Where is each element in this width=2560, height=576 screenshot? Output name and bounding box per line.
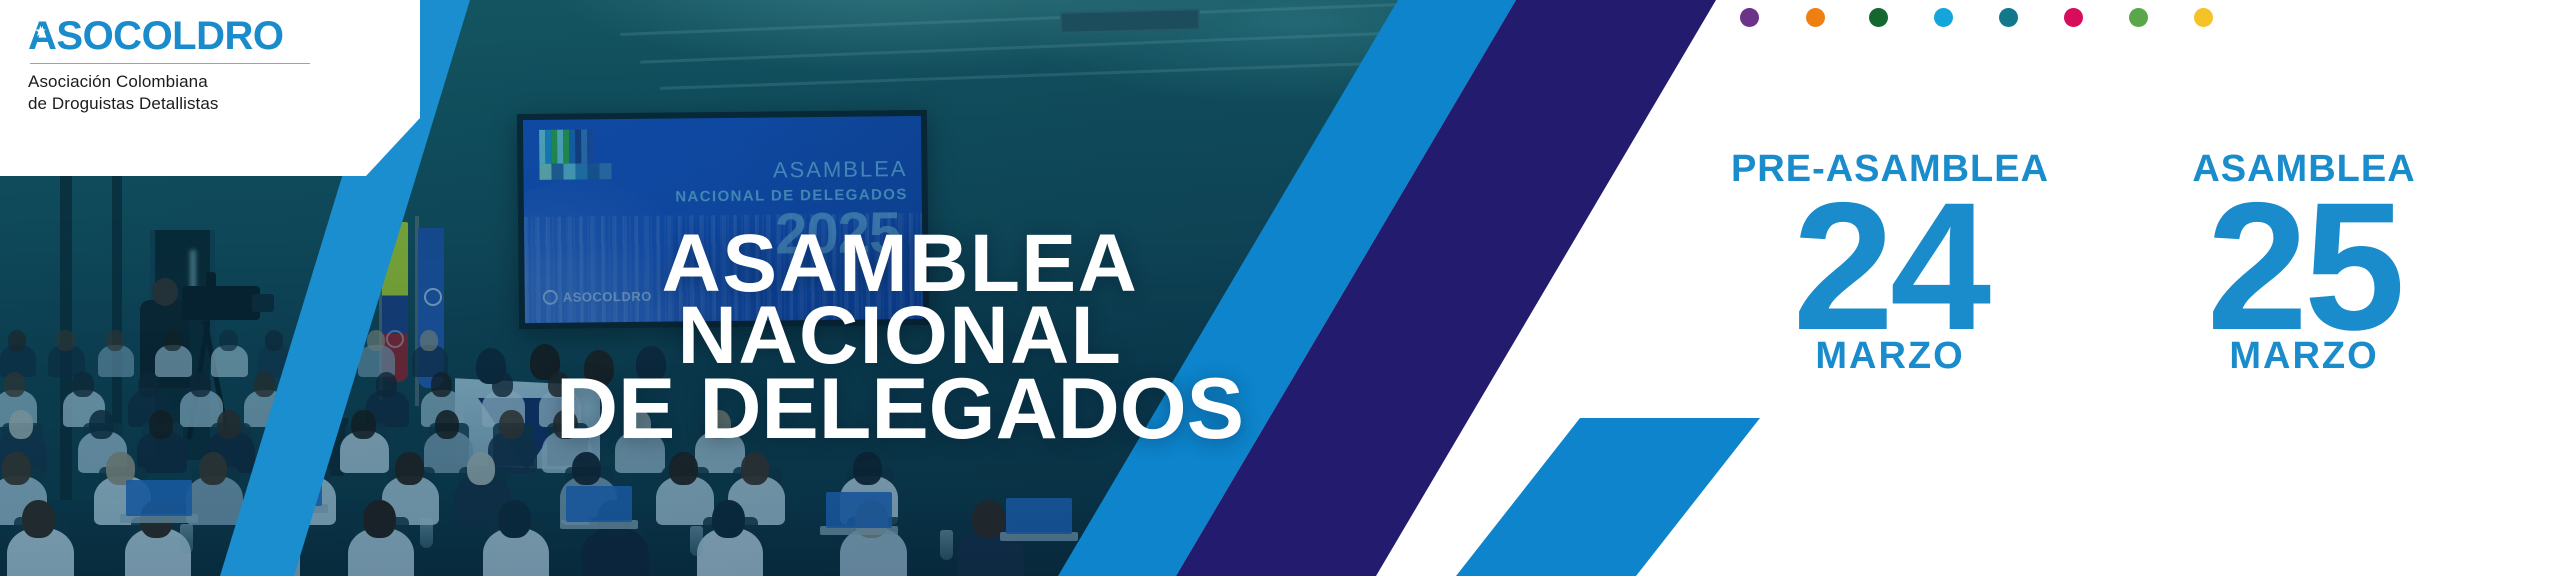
date-card-pre-asamblea: PRE-ASAMBLEA24MARZO [1700, 150, 2080, 375]
screen-subtitle: NACIONAL DE DELEGADOS [675, 186, 908, 205]
water-glass [180, 524, 193, 554]
ceiling-vent [1060, 8, 1201, 34]
audience-member-head [89, 410, 114, 439]
screen-color-bar [599, 163, 611, 179]
audience-member-head [363, 500, 396, 538]
laptop-screen [1006, 498, 1072, 534]
headline-line-3: DE DELEGADOS [450, 372, 1350, 448]
audience-member-head [8, 330, 26, 351]
date-day: 25 [2124, 192, 2484, 341]
audience-member-head [2, 452, 31, 485]
screen-title: ASAMBLEA [773, 156, 908, 183]
dot-yellow [2194, 8, 2213, 27]
dot-green-dark [1869, 8, 1888, 27]
laptop-screen [566, 486, 632, 522]
audience-member-head [22, 500, 55, 538]
logo-tagline: Asociación Colombiana de Droguistas Deta… [28, 71, 420, 115]
audience-member-head [467, 452, 496, 485]
audience-member-head [219, 330, 237, 351]
dot-magenta [2064, 8, 2083, 27]
logo-divider [30, 63, 310, 64]
screen-color-bar [587, 129, 593, 163]
video-camera [182, 286, 260, 320]
screen-color-bars-secondary [539, 163, 611, 180]
audience-member-head [367, 330, 385, 351]
screen-color-bar [539, 164, 551, 180]
audience-member-head [712, 500, 745, 538]
cameraman-head [152, 278, 178, 306]
logo-tagline-line-2: de Droguistas Detallistas [28, 93, 420, 115]
date-month: MARZO [1700, 337, 2080, 375]
camera-microphone [206, 272, 216, 288]
screen-color-bar [563, 164, 575, 180]
audience-member-head [9, 410, 34, 439]
camera-lens [252, 294, 274, 312]
water-glass [940, 530, 953, 560]
audience-member-head [217, 410, 242, 439]
audience-member-head [254, 372, 275, 397]
screen-color-bars [539, 129, 593, 164]
audience-member-head [163, 330, 181, 351]
audience-member-head [138, 372, 159, 397]
audience-member-head [498, 500, 531, 538]
dot-cyan [1934, 8, 1953, 27]
audience-member-head [72, 372, 93, 397]
color-dot-strip [1740, 8, 2540, 38]
screen-color-bar [587, 163, 599, 179]
screen-color-bar [551, 164, 563, 180]
audience-member-head [56, 330, 74, 351]
dot-orange [1806, 8, 1825, 27]
dot-purple [1740, 8, 1759, 27]
audience-member-head [190, 372, 211, 397]
audience-member-head [106, 330, 124, 351]
audience-member-head [199, 452, 228, 485]
star-in-letter-a-icon [34, 25, 47, 38]
date-blocks: PRE-ASAMBLEA24MARZOASAMBLEA25MARZO [1700, 150, 2560, 490]
date-day: 24 [1700, 192, 2080, 341]
logo-wordmark: ASOCOLDRO [28, 16, 284, 56]
dot-teal [1999, 8, 2018, 27]
flag-seal [424, 288, 442, 306]
laptop-screen [826, 492, 892, 528]
logo-lockup: ASOCOLDRO [28, 16, 284, 56]
audience-member-head [395, 452, 424, 485]
water-glass [420, 518, 433, 548]
logo-tagline-line-1: Asociación Colombiana [28, 71, 420, 93]
dot-green [2129, 8, 2148, 27]
headline: ASAMBLEA NACIONAL DE DELEGADOS [450, 228, 1350, 448]
audience-member-head [4, 372, 25, 397]
audience-member-head [351, 410, 376, 439]
screen-color-bar [575, 163, 587, 179]
event-banner: 2025 ASAMBLEA NACIONAL DE DELEGADOS ASOC… [0, 0, 2560, 576]
audience-member-head [420, 330, 438, 351]
flag-seal [386, 330, 404, 348]
date-month: MARZO [2124, 337, 2484, 375]
audience-member-head [265, 330, 283, 351]
laptop-screen [126, 480, 192, 516]
water-glass [690, 526, 703, 556]
audience-member-head [149, 410, 174, 439]
audience-member-head [376, 372, 397, 397]
date-card-asamblea: ASAMBLEA25MARZO [2124, 150, 2484, 375]
logo-box: ASOCOLDRO Asociación Colombiana de Drogu… [0, 0, 420, 176]
